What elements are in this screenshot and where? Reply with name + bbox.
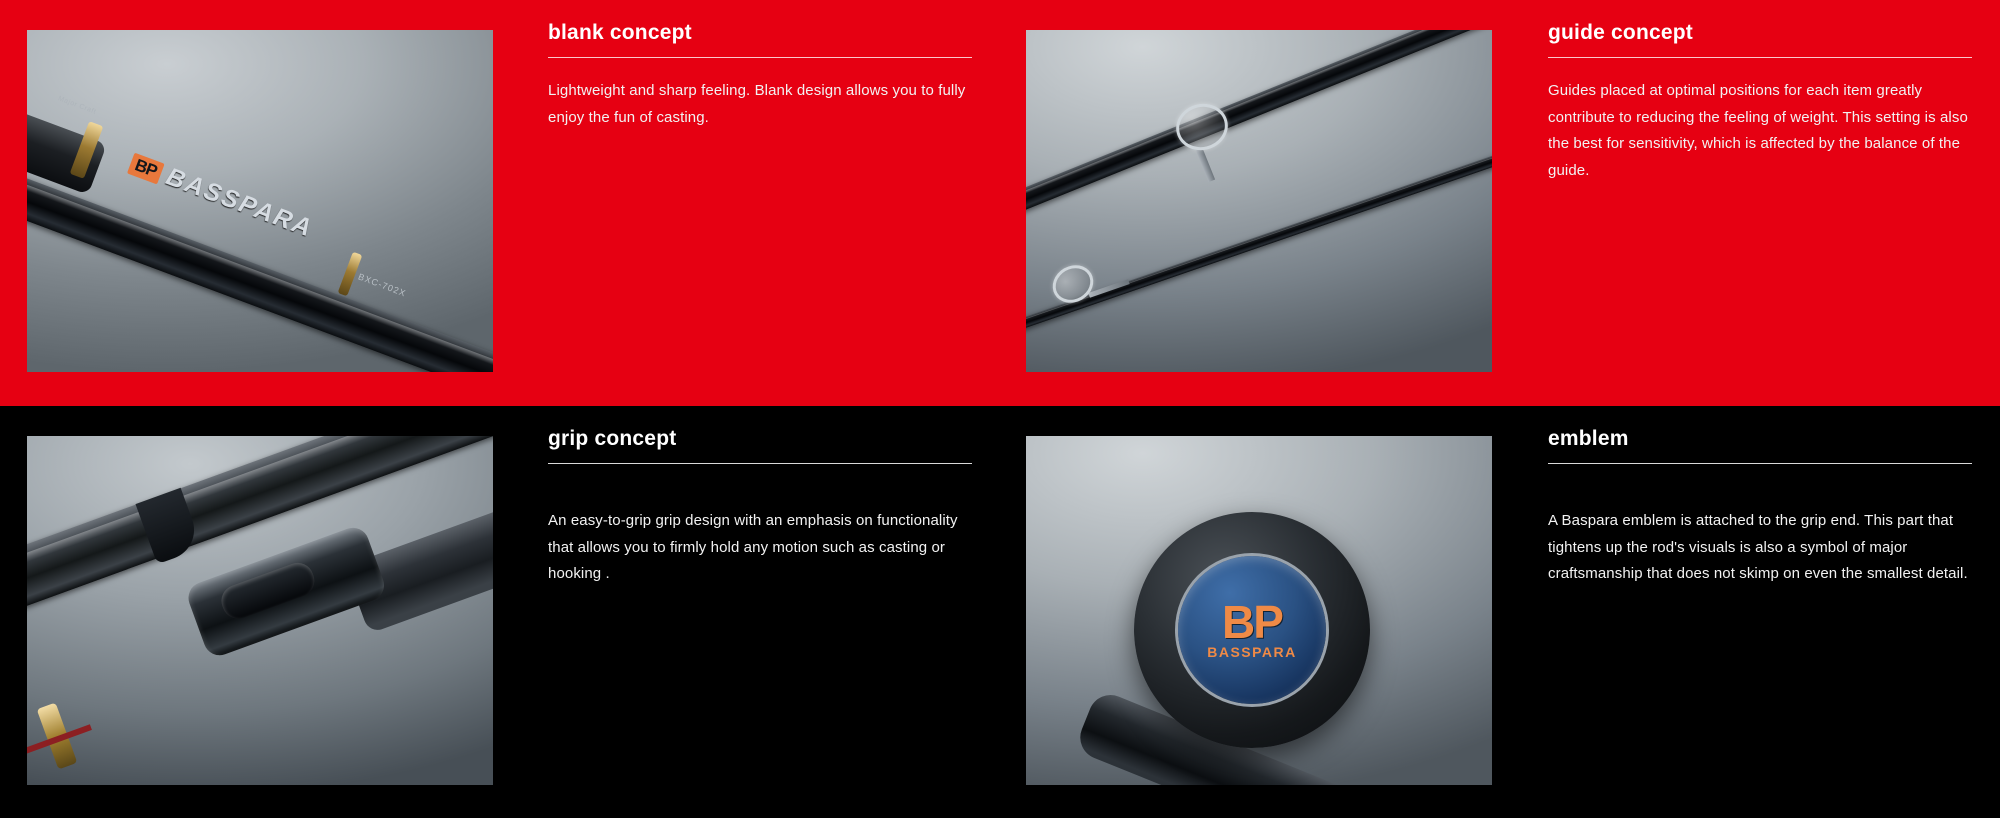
rod-emblem-photo: BP BASSPARA bbox=[1026, 436, 1492, 785]
emblem-text-block: emblem A Baspara emblem is attached to t… bbox=[1548, 426, 1972, 588]
section-band-bottom: grip concept An easy-to-grip grip design… bbox=[0, 406, 2000, 818]
butt-cap-shape: BP BASSPARA bbox=[1134, 512, 1370, 748]
grip-concept-text-block: grip concept An easy-to-grip grip design… bbox=[548, 426, 972, 588]
guide-concept-heading: guide concept bbox=[1548, 20, 1972, 57]
section-band-top: Major Craft BP BASSPARA BXC-702X blank c… bbox=[0, 0, 2000, 406]
guide-concept-text-cell: guide concept Guides placed at optimal p… bbox=[1524, 0, 2000, 406]
blank-concept-text-cell: blank concept Lightweight and sharp feel… bbox=[524, 0, 1000, 406]
guide-concept-text-block: guide concept Guides placed at optimal p… bbox=[1548, 20, 1972, 184]
emblem-text-cell: emblem A Baspara emblem is attached to t… bbox=[1524, 406, 2000, 818]
grip-concept-heading: grip concept bbox=[548, 426, 972, 463]
emblem-body: A Baspara emblem is attached to the grip… bbox=[1548, 464, 1968, 588]
blank-concept-text-block: blank concept Lightweight and sharp feel… bbox=[548, 20, 972, 131]
blank-concept-image-cell: Major Craft BP BASSPARA BXC-702X bbox=[0, 0, 524, 406]
blank-concept-body: Lightweight and sharp feeling. Blank des… bbox=[548, 58, 968, 131]
grip-concept-body: An easy-to-grip grip design with an emph… bbox=[548, 464, 968, 588]
grip-concept-image-cell bbox=[0, 406, 524, 818]
emblem-image-cell: BP BASSPARA bbox=[1000, 406, 1524, 818]
basspara-emblem: BP BASSPARA bbox=[1178, 556, 1326, 704]
grip-concept-text-cell: grip concept An easy-to-grip grip design… bbox=[524, 406, 1000, 818]
rod-guides-photo bbox=[1026, 30, 1492, 372]
studio-backdrop bbox=[1026, 30, 1492, 372]
blank-concept-heading: blank concept bbox=[548, 20, 972, 57]
emblem-wordmark: BASSPARA bbox=[1207, 645, 1297, 659]
guide-concept-body: Guides placed at optimal positions for e… bbox=[1548, 58, 1968, 184]
rod-blank-closeup-photo: Major Craft BP BASSPARA BXC-702X bbox=[27, 30, 493, 372]
product-feature-page: Major Craft BP BASSPARA BXC-702X blank c… bbox=[0, 0, 2000, 818]
studio-backdrop bbox=[27, 30, 493, 372]
guide-concept-image-cell bbox=[1000, 0, 1524, 406]
emblem-bp-mark: BP bbox=[1222, 601, 1282, 643]
emblem-heading: emblem bbox=[1548, 426, 1972, 463]
rod-grip-photo bbox=[27, 436, 493, 785]
